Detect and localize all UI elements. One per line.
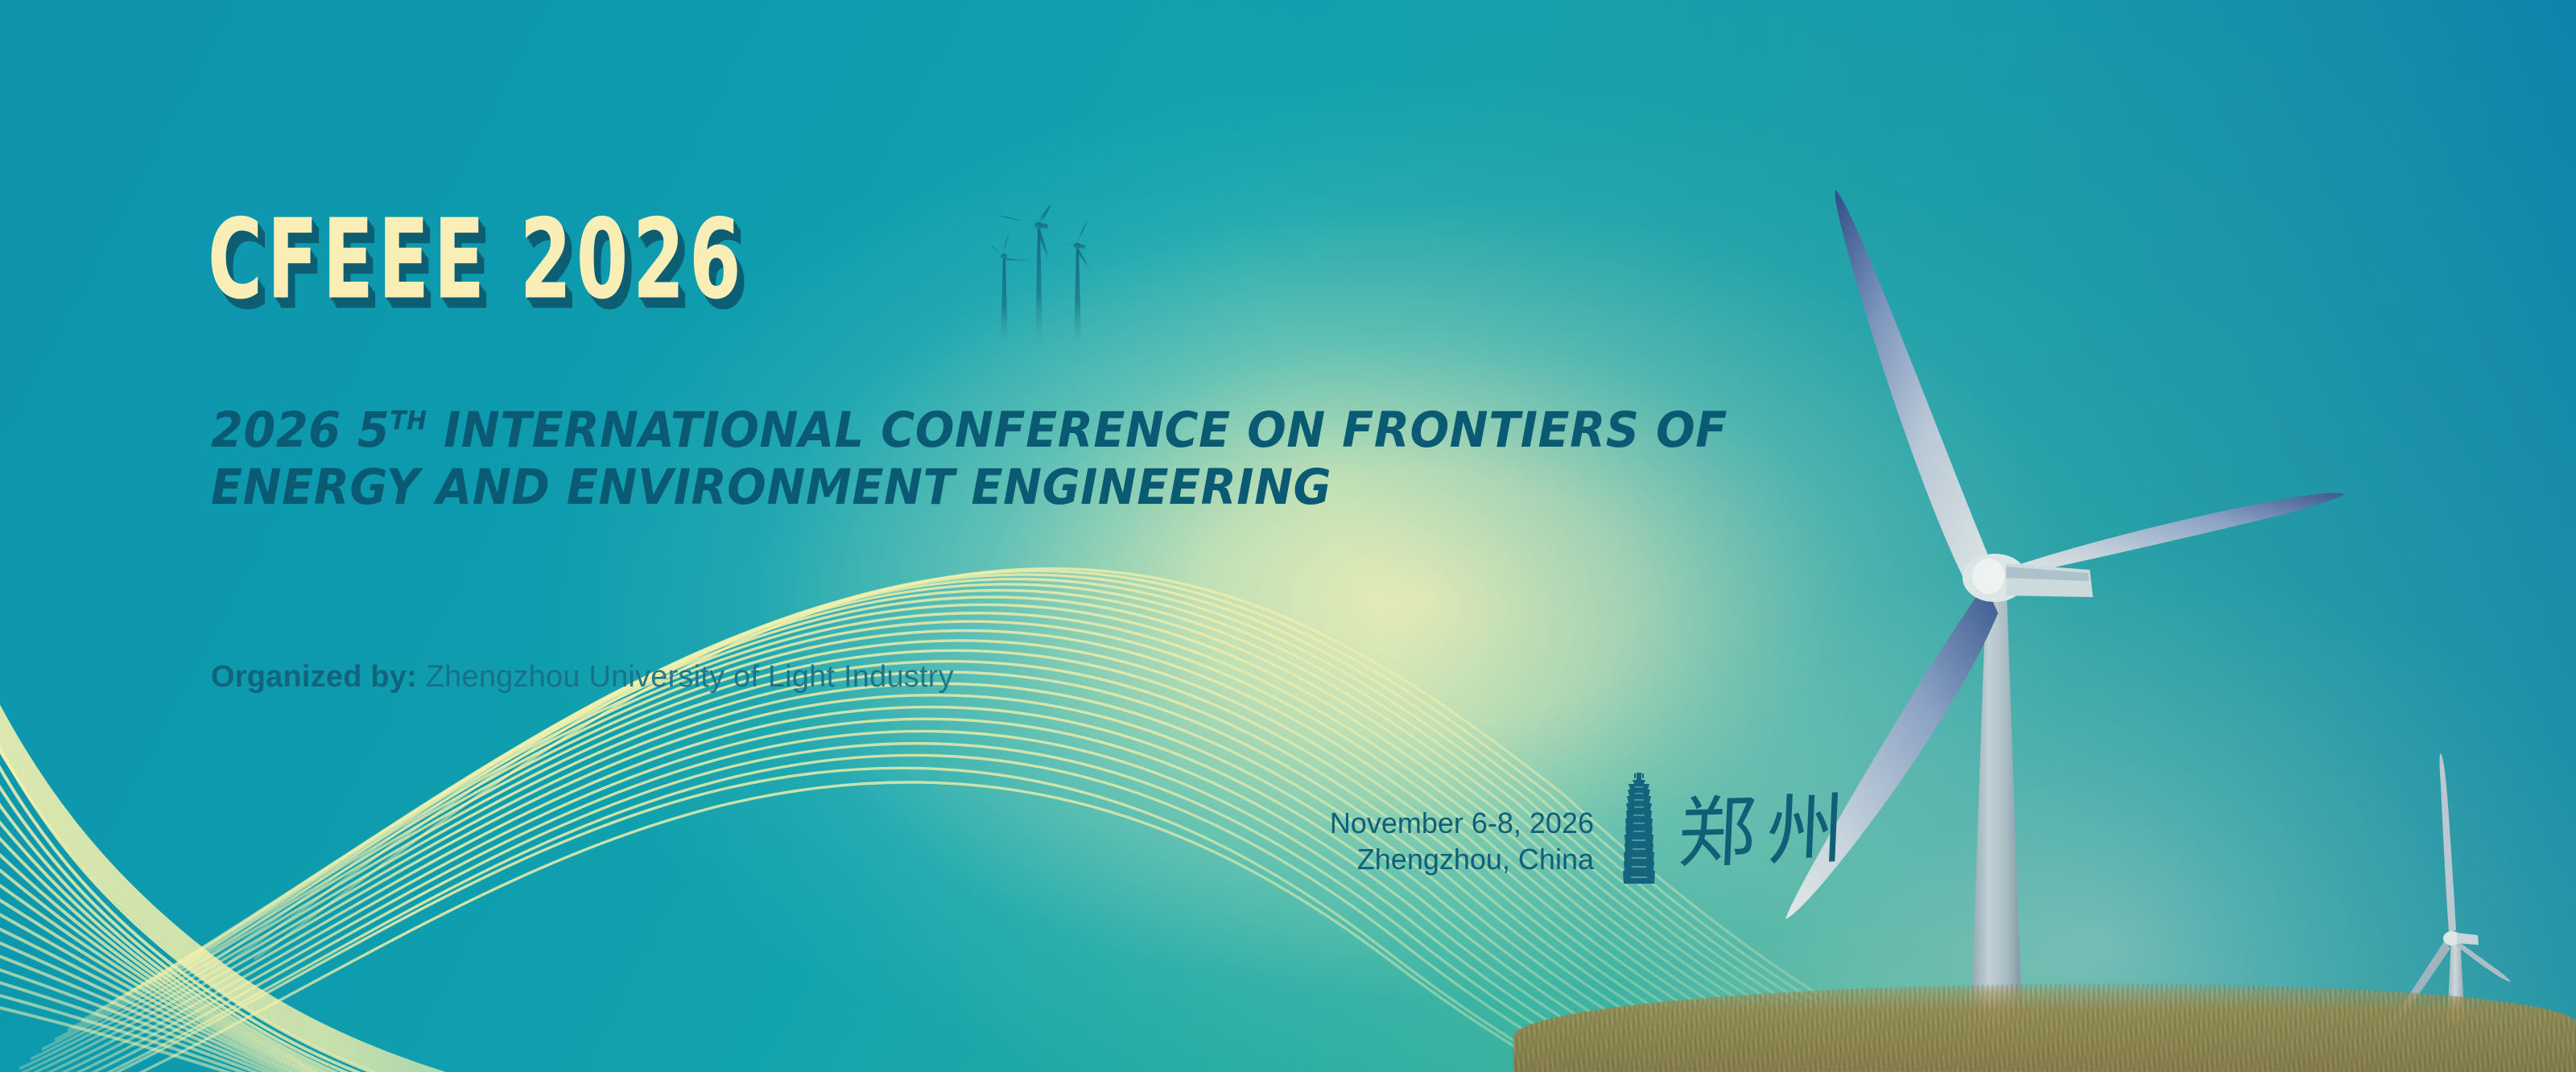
conference-date: November 6-8, 2026 [1111, 805, 1594, 841]
conference-title: 2026 5TH INTERNATIONAL CONFERENCE ON FRO… [211, 402, 1974, 517]
organizer-line: Organized by: Zhengzhou University of Li… [211, 660, 954, 695]
conference-location: Zhengzhou, China [1111, 841, 1594, 877]
organized-by-label: Organized by: [211, 660, 417, 694]
title-line-1-prefix: 2026 5 [211, 402, 390, 459]
ordinal-suffix: TH [390, 407, 427, 436]
ground-field-strip [1513, 983, 2576, 1072]
title-line-1-rest: INTERNATIONAL CONFERENCE ON FRONTIERS OF [427, 402, 1728, 459]
date-and-venue: November 6-8, 2026 Zhengzhou, China [1111, 805, 1594, 878]
pagoda-tower-icon [1620, 773, 1657, 884]
halftone-dots-pattern [0, 0, 979, 386]
title-line-2: ENERGY AND ENVIRONMENT ENGINEERING [211, 460, 1974, 517]
title-line-1: 2026 5TH INTERNATIONAL CONFERENCE ON FRO… [211, 402, 1974, 460]
wind-turbine-silhouette-trio [992, 205, 1201, 346]
conference-banner: CFEEE 2026 [0, 0, 2576, 1072]
organizer-name: Zhengzhou University of Light Industry [426, 660, 954, 694]
conference-acronym-logo: CFEEE 2026 [208, 205, 880, 299]
city-name-chinese-calligraphy: 郑州 [1677, 790, 1858, 872]
logo-text: CFEEE 2026 [208, 205, 745, 315]
